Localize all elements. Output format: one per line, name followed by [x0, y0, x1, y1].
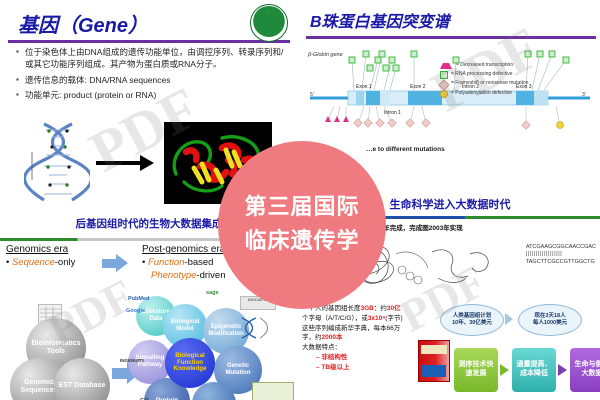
- bubble-biological-function-knowledge: Biological Function Knowledge: [165, 338, 215, 388]
- bubble-label: Genetic Mutation: [214, 363, 262, 376]
- svg-text:Exon 1: Exon 1: [356, 84, 372, 90]
- svg-text:Intron 1: Intron 1: [384, 110, 401, 116]
- logo-ingenuity: INGENUITY: [120, 358, 145, 363]
- list-item-label: 遗传信息的载体: DNA/RNA sequences: [25, 74, 284, 86]
- dna-helix-icon: [24, 122, 90, 204]
- slide-canvas: PDF PDF PDF PDF 基因（Gene） ▪位于染色体上由DNA组成的遗…: [0, 0, 600, 400]
- dna-sequence-top: ATCGAAGCGGCAACCGAC: [526, 244, 596, 251]
- bullet-dot-icon: ▪: [16, 46, 25, 71]
- gene-label: β-Globin gene: [308, 52, 343, 58]
- genomics-era-heading: Genomics era: [6, 244, 68, 255]
- logo-sage: sage: [206, 290, 219, 296]
- ellipse-line-1: 现在3天18人: [534, 313, 565, 319]
- box-label: 测序技术快速发展: [456, 361, 496, 379]
- ellipse-line-2: 每人1000美元: [533, 320, 567, 326]
- box-sequencing-tech: 测序技术快速发展: [454, 348, 498, 392]
- postgenomics-era-item-1: • Function-based: [142, 257, 225, 268]
- institution-emblem-icon: [250, 4, 288, 42]
- box-label: 通量提高、成本降低: [514, 361, 554, 379]
- ellipse-today: 现在3天18人每人1000美元: [518, 304, 582, 336]
- genomics-era-item: • Sequence-only: [6, 257, 75, 268]
- bubble-label: Biological Function Knowledge: [165, 353, 215, 373]
- postgenomics-era-item-2: Phenotype-driven: [151, 270, 225, 281]
- microarray-thumbnail: [252, 382, 294, 400]
- sphere-label: EST Database: [59, 382, 106, 390]
- divider: [8, 40, 290, 43]
- bullet-dot-icon: ▪: [16, 74, 25, 86]
- base-pair-ladder-icon: ||||||||||||||||||: [526, 251, 596, 258]
- ellipse-line-2: 10年、30亿美元: [452, 320, 492, 326]
- box-throughput-cost: 通量提高、成本降低: [512, 348, 556, 392]
- dna-sequence-bottom: TAGCTTCGCCGTTGGCTG: [526, 259, 596, 266]
- genomics-era-block: Genomics era • Sequence-only: [6, 244, 75, 268]
- postgenomics-era-heading: Post-genomics era: [142, 244, 225, 255]
- overlay-line-1: 第三届国际: [244, 191, 359, 225]
- page-title-bglobin: B珠蛋白基因突变谱: [310, 8, 450, 32]
- svg-text:Exon 2: Exon 2: [410, 84, 426, 90]
- list-item: ▪位于染色体上由DNA组成的遗传功能单位，由调控序列、转录序列和/或其它功能序列…: [16, 46, 284, 71]
- divider: [306, 36, 596, 39]
- ellipse-arrow-icon: [505, 313, 513, 325]
- box-health-bigdata: 生命与健康大数据: [570, 348, 600, 392]
- svg-text:3': 3': [582, 92, 586, 98]
- bubble-label: Biological Model: [163, 319, 207, 332]
- list-item: ▪遗传信息的载体: DNA/RNA sequences: [16, 74, 284, 86]
- box-arrow-icon: [558, 364, 567, 376]
- figure-caption: …e to different mutations: [366, 146, 445, 153]
- page-title-gene: 基因（Gene）: [18, 9, 148, 38]
- dna-thumbnail-icon: [238, 316, 272, 340]
- sphere-est-database: EST Database: [54, 358, 110, 400]
- dictionary-book-image: [418, 340, 450, 382]
- overlay-line-2: 临床遗传学: [244, 225, 359, 259]
- postgenomics-era-block: Post-genomics era • Function-based Pheno…: [142, 244, 225, 281]
- svg-text:5': 5': [310, 92, 314, 98]
- conference-badge-overlay: 第三届国际 临床遗传学: [218, 141, 386, 309]
- list-item-label: 位于染色体上由DNA组成的遗传功能单位，由调控序列、转录序列和/或其它功能序列组…: [25, 46, 284, 71]
- box-arrow-icon: [500, 364, 509, 376]
- box-label: 生命与健康大数据: [572, 361, 600, 379]
- dna-sequence-block: ATCGAAGCGGCAACCGAC |||||||||||||||||| TA…: [526, 244, 596, 266]
- bullet-dot-icon: ▪: [16, 89, 25, 101]
